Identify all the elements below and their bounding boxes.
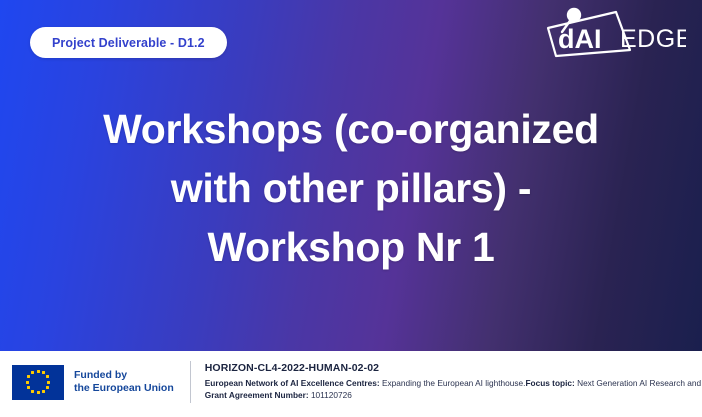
logo-mark-text: dAI [558,24,602,54]
funded-by-line-2: the European Union [74,382,174,394]
eu-star [26,381,29,384]
eu-star [37,370,40,373]
eu-star [31,390,34,393]
slide-title-line-3: Workshop Nr 1 [40,218,662,277]
funded-by-text: Funded by the European Union [74,369,174,395]
eu-star [46,375,49,378]
eu-star [37,391,40,394]
call-identifier: HORIZON-CL4-2022-HUMAN-02-02 [205,362,702,375]
eu-star [31,371,34,374]
eu-star [42,371,45,374]
focus-topic-value: Next Generation AI Research and Innovati… [575,378,702,388]
footer-divider [190,361,191,403]
eu-star [47,381,50,384]
logo-word-text: EDGE [620,25,686,53]
slide-title-line-1: Workshops (co-organized [40,100,662,159]
slide-footer: Funded by the European Union HORIZON-CL4… [0,351,702,417]
slide-title-line-2: with other pillars) - [40,159,662,218]
network-description: European Network of AI Excellence Centre… [205,377,702,390]
slide-root: Project Deliverable - D1.2 dAI EDGE Work… [0,0,702,417]
grant-info-block: HORIZON-CL4-2022-HUMAN-02-02 European Ne… [205,362,702,402]
network-label: European Network of AI Excellence Centre… [205,378,380,388]
eu-star [42,390,45,393]
funded-by-line-1: Funded by [74,369,127,381]
focus-topic-label: Focus topic: [525,378,574,388]
footer-content: Funded by the European Union HORIZON-CL4… [0,351,702,403]
grant-agreement: Grant Agreement Number: 101120726 [205,389,702,402]
network-value: Expanding the European AI lighthouse. [380,378,526,388]
eu-star [27,386,30,389]
project-deliverable-badge[interactable]: Project Deliverable - D1.2 [30,27,227,58]
eu-flag-icon [12,365,64,400]
eu-star [27,375,30,378]
grant-value: 101120726 [309,390,352,400]
grant-label: Grant Agreement Number: [205,390,309,400]
daiedge-logo[interactable]: dAI EDGE [538,6,686,64]
eu-star [46,386,49,389]
slide-title-block: Workshops (co-organized with other pilla… [40,100,662,277]
badge-label: Project Deliverable - D1.2 [52,36,205,50]
